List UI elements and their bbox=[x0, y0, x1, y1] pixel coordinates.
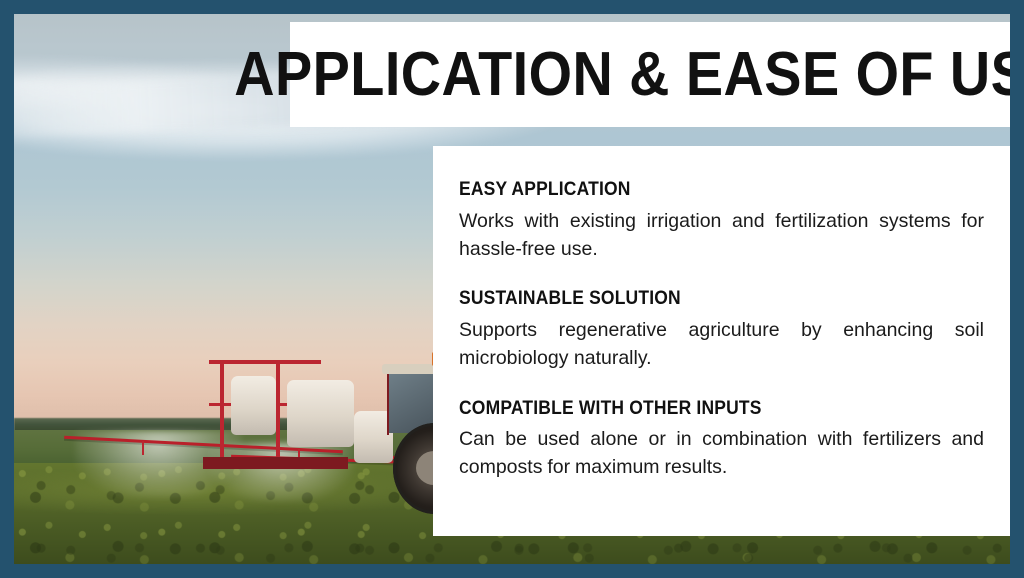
content-block: EASY APPLICATION Works with existing irr… bbox=[459, 180, 984, 263]
content-block: COMPATIBLE WITH OTHER INPUTS Can be used… bbox=[459, 399, 984, 482]
block-body: Can be used alone or in combination with… bbox=[459, 426, 984, 481]
content-block: SUSTAINABLE SOLUTION Supports regenerati… bbox=[459, 289, 984, 372]
slide-inner-area: APPLICATION & EASE OF USE EASY APPLICATI… bbox=[14, 14, 1010, 564]
sprayer-mast-right bbox=[276, 360, 280, 459]
chemical-tank-front bbox=[231, 376, 276, 435]
content-panel: EASY APPLICATION Works with existing irr… bbox=[433, 146, 1010, 536]
sprayer-base bbox=[203, 457, 348, 469]
chemical-tank-main bbox=[287, 380, 354, 447]
block-body: Supports regenerative agriculture by enh… bbox=[459, 317, 984, 372]
page-title: APPLICATION & EASE OF USE bbox=[234, 44, 1010, 106]
title-banner: APPLICATION & EASE OF USE bbox=[290, 22, 1010, 127]
block-heading: SUSTAINABLE SOLUTION bbox=[459, 289, 942, 310]
block-heading: COMPATIBLE WITH OTHER INPUTS bbox=[459, 399, 942, 420]
block-heading: EASY APPLICATION bbox=[459, 180, 942, 201]
block-body: Works with existing irrigation and ferti… bbox=[459, 208, 984, 263]
sprayer-mast-left bbox=[220, 360, 224, 463]
sprayer-top-rail bbox=[209, 360, 321, 364]
cab-pillar-front bbox=[387, 374, 389, 435]
slide: APPLICATION & EASE OF USE EASY APPLICATI… bbox=[0, 0, 1024, 578]
boom-strut-1 bbox=[142, 441, 144, 455]
